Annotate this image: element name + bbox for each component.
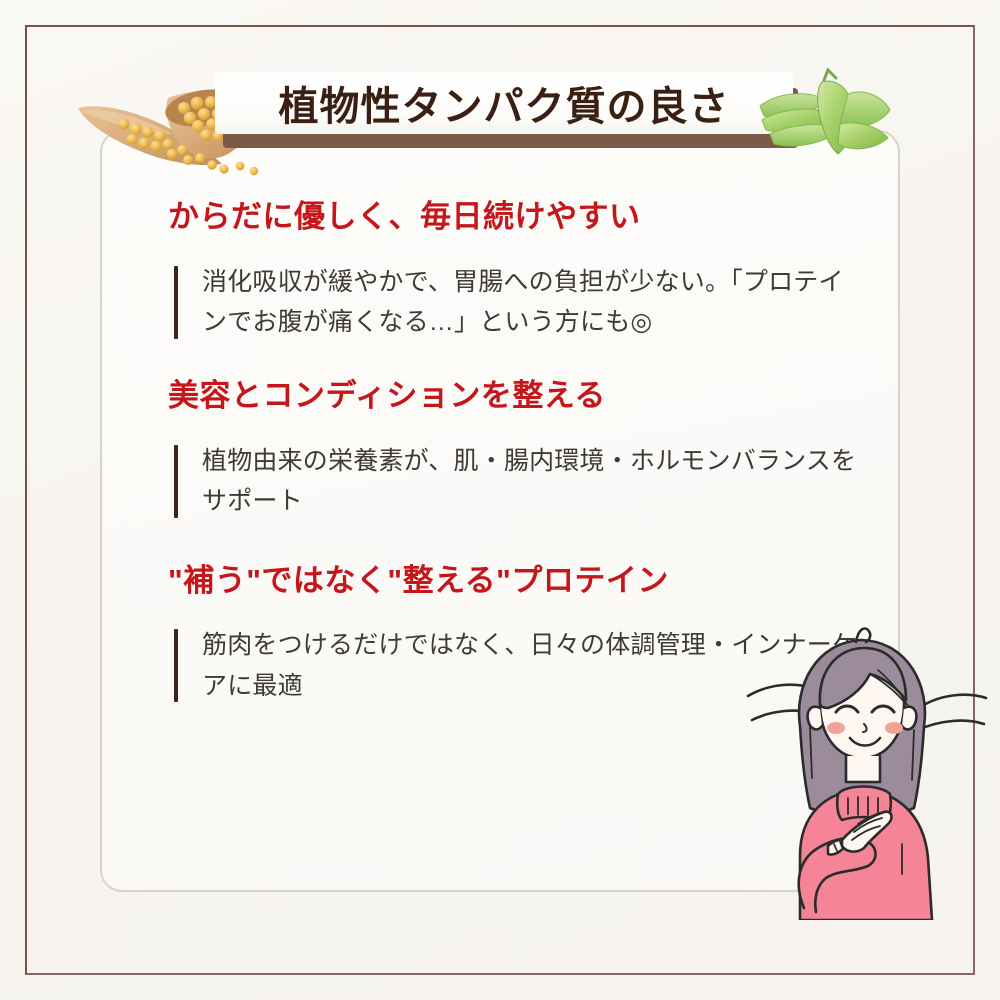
section-1: からだに優しく、毎日続けやすい 消化吸収が緩やかで、胃腸への負担が少ない。「プロ… — [168, 198, 868, 343]
section-2: 美容とコンディションを整える 植物由来の栄養素が、肌・腸内環境・ホルモンバランス… — [168, 377, 868, 522]
section-2-body: 植物由来の栄養素が、肌・腸内環境・ホルモンバランスをサポート — [168, 441, 868, 522]
title-banner: 植物性タンパク質の良さ — [215, 72, 795, 150]
infographic-poster: 植物性タンパク質の良さ からだに優しく、毎 — [0, 0, 1000, 1000]
section-3-heading: "補う"ではなく"整える"プロテイン — [168, 562, 868, 601]
banner-body: 植物性タンパク質の良さ — [215, 72, 793, 134]
smiling-woman-illustration — [742, 608, 982, 920]
section-1-body: 消化吸収が緩やかで、胃腸への負担が少ない。「プロテインでお腹が痛くなる…」という… — [168, 262, 868, 343]
page-title: 植物性タンパク質の良さ — [279, 74, 730, 132]
edamame-pods-icon — [752, 62, 912, 172]
section-2-heading: 美容とコンディションを整える — [168, 377, 868, 416]
section-1-heading: からだに優しく、毎日続けやすい — [168, 198, 868, 237]
